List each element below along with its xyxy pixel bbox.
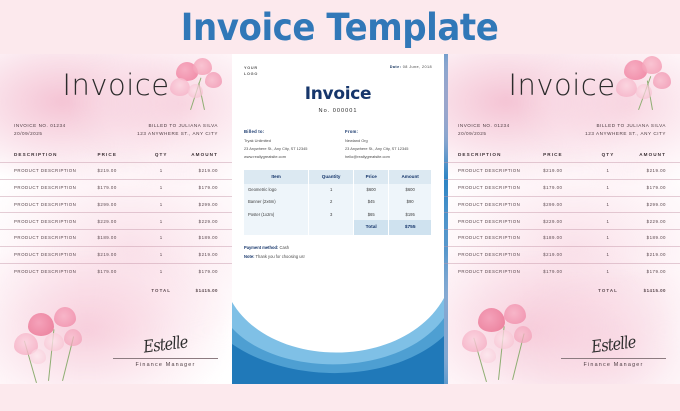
cell-description: PRODUCT DESCRIPTION bbox=[0, 230, 97, 247]
from-label: From: bbox=[345, 129, 358, 134]
signature-block-left: Estelle Finance Manager bbox=[113, 335, 218, 368]
invoice-date-left: 20/09/2025 bbox=[14, 130, 66, 138]
payment-method-label: Payment method: bbox=[244, 245, 278, 250]
cell-qty: 1 bbox=[590, 162, 625, 179]
col-description: DESCRIPTION bbox=[444, 149, 543, 163]
page-title-bar: Invoice Template bbox=[0, 0, 680, 54]
invoice-date-right: 20/09/2025 bbox=[458, 130, 510, 138]
cell-qty: 1 bbox=[590, 246, 625, 263]
cell-price: $229.00 bbox=[543, 213, 590, 230]
invoice-headline-right: Invoice bbox=[444, 68, 680, 102]
invoice-headline-middle: Invoice bbox=[232, 84, 444, 104]
table-row: PRODUCT DESCRIPTION $229.00 1 $229.00 bbox=[444, 213, 680, 230]
cell-price: $219.00 bbox=[97, 246, 143, 263]
total-label: Total bbox=[354, 220, 389, 235]
cell-price: $299.00 bbox=[543, 196, 590, 213]
col-description: DESCRIPTION bbox=[0, 149, 97, 163]
cell-description: PRODUCT DESCRIPTION bbox=[0, 179, 97, 196]
cell-qty: 1 bbox=[144, 213, 179, 230]
wave-svg bbox=[232, 292, 444, 384]
cell-qty: 1 bbox=[590, 213, 625, 230]
cell-description: PRODUCT DESCRIPTION bbox=[444, 263, 543, 279]
signature-name: Estelle bbox=[568, 330, 659, 361]
cell-item: Poster (1x2m) bbox=[244, 208, 309, 220]
table-row: PRODUCT DESCRIPTION $219.00 1 $219.00 bbox=[444, 162, 680, 179]
cell-description: PRODUCT DESCRIPTION bbox=[444, 230, 543, 247]
table-row: PRODUCT DESCRIPTION $229.00 1 $229.00 bbox=[0, 213, 232, 230]
cell-description: PRODUCT DESCRIPTION bbox=[444, 196, 543, 213]
table-header-row: DESCRIPTION PRICE QTY AMOUNT bbox=[0, 149, 232, 163]
invoice-address-right: 123 ANYWHERE ST., ANY CITY bbox=[585, 130, 666, 138]
table-row: PRODUCT DESCRIPTION $299.00 1 $299.00 bbox=[444, 196, 680, 213]
cell-qty: 1 bbox=[144, 230, 179, 247]
cell-amount: $179.00 bbox=[626, 179, 680, 196]
cell-amount: $219.00 bbox=[626, 162, 680, 179]
floral-decoration-bottom-left bbox=[454, 296, 552, 384]
cell-amount: $179.00 bbox=[626, 263, 680, 279]
table-row: Geometric logo 1 $600 $600 bbox=[244, 184, 432, 196]
cell-price: $229.00 bbox=[97, 213, 143, 230]
cell-qty: 1 bbox=[144, 162, 179, 179]
invoice-table-left: DESCRIPTION PRICE QTY AMOUNT PRODUCT DES… bbox=[0, 149, 232, 299]
invoice-meta-left: INVOICE NO. 01234 20/09/2025 BILLED TO J… bbox=[0, 122, 232, 139]
total-amount: $1415.00 bbox=[626, 279, 680, 298]
cell-amount: $90 bbox=[389, 196, 432, 208]
cell-amount: $219.00 bbox=[626, 246, 680, 263]
table-row: PRODUCT DESCRIPTION $179.00 1 $179.00 bbox=[0, 179, 232, 196]
payment-method-line: Payment method: Cash bbox=[244, 244, 432, 253]
payment-info-middle: Payment method: Cash Note: Thank you for… bbox=[232, 235, 444, 261]
billed-to-name: Tryak Unlimited bbox=[244, 137, 331, 145]
col-price: Price bbox=[354, 170, 389, 184]
cell-description: PRODUCT DESCRIPTION bbox=[444, 179, 543, 196]
cell-qty: 1 bbox=[144, 179, 179, 196]
total-label: TOTAL bbox=[590, 279, 625, 298]
cell-qty: 1 bbox=[590, 230, 625, 247]
cell-amount: $299.00 bbox=[179, 196, 232, 213]
signature-block-right: Estelle Finance Manager bbox=[561, 335, 666, 368]
col-price: PRICE bbox=[543, 149, 590, 163]
cell-price: $179.00 bbox=[97, 263, 143, 279]
invoice-meta-client-left: BILLED TO JULIANA SILVA 123 ANYWHERE ST.… bbox=[137, 122, 218, 139]
billed-to-address: 23 Anywhere St., Any City, ST 12345 bbox=[244, 145, 331, 153]
invoice-headline-left: Invoice bbox=[0, 68, 232, 102]
cell-amount: $229.00 bbox=[179, 213, 232, 230]
cell-qty: 1 bbox=[144, 263, 179, 279]
cell-item: Geometric logo bbox=[244, 184, 309, 196]
cell-quantity: 3 bbox=[309, 208, 354, 220]
cell-price: $219.00 bbox=[543, 246, 590, 263]
page-title: Invoice Template bbox=[181, 6, 499, 49]
invoice-meta-issuer-left: INVOICE NO. 01234 20/09/2025 bbox=[14, 122, 66, 139]
table-total-row: TOTAL $1415.00 bbox=[0, 279, 232, 298]
invoice-panel-right[interactable]: Invoice INVOICE NO. 01234 20/09/2025 BIL… bbox=[444, 54, 680, 384]
table-row: PRODUCT DESCRIPTION $219.00 1 $219.00 bbox=[0, 246, 232, 263]
billed-to-block: Billed to: Tryak Unlimited 23 Anywhere S… bbox=[244, 128, 331, 161]
col-qty: QTY bbox=[144, 149, 179, 163]
cell-price: $299.00 bbox=[97, 196, 143, 213]
floral-decoration-bottom-left bbox=[6, 299, 101, 384]
table-row: PRODUCT DESCRIPTION $189.00 1 $189.00 bbox=[0, 230, 232, 247]
invoice-billed-to-right: BILLED TO JULIANA SILVA bbox=[585, 122, 666, 130]
cell-description: PRODUCT DESCRIPTION bbox=[0, 196, 97, 213]
cell-amount: $219.00 bbox=[179, 162, 232, 179]
invoice-address-left: 123 ANYWHERE ST., ANY CITY bbox=[137, 130, 218, 138]
table-body-middle: Geometric logo 1 $600 $600 Banner (2x6m)… bbox=[244, 184, 432, 236]
cell-amount: $299.00 bbox=[626, 196, 680, 213]
table-header-row: Item Quantity Price Amount bbox=[244, 170, 432, 184]
cell-amount: $229.00 bbox=[626, 213, 680, 230]
invoice-meta-issuer-right: INVOICE NO. 01234 20/09/2025 bbox=[458, 122, 510, 139]
cell-price: $65 bbox=[354, 208, 389, 220]
invoice-table-middle: Item Quantity Price Amount Geometric log… bbox=[244, 170, 432, 236]
col-item: Item bbox=[244, 170, 309, 184]
from-address: 23 Anywhere St., Any City, ST 12345 bbox=[345, 145, 432, 153]
cell-price: $189.00 bbox=[97, 230, 143, 247]
logo-placeholder: YOUR LOGO bbox=[244, 65, 258, 78]
signature-role: Finance Manager bbox=[113, 362, 218, 368]
cell-price: $189.00 bbox=[543, 230, 590, 247]
cell-item: Banner (2x6m) bbox=[244, 196, 309, 208]
note-label: Note: bbox=[244, 254, 254, 259]
table-header-row: DESCRIPTION PRICE QTY AMOUNT bbox=[444, 149, 680, 163]
cell-amount: $189.00 bbox=[179, 230, 232, 247]
table-row: PRODUCT DESCRIPTION $179.00 1 $179.00 bbox=[0, 263, 232, 279]
table-row: PRODUCT DESCRIPTION $219.00 1 $219.00 bbox=[444, 246, 680, 263]
cell-amount: $179.00 bbox=[179, 263, 232, 279]
invoice-panel-middle[interactable]: YOUR LOGO Date: 08 June, 2018 Invoice No… bbox=[232, 54, 444, 384]
cell-price: $179.00 bbox=[543, 179, 590, 196]
date-value: 08 June, 2018 bbox=[403, 65, 432, 69]
note-line: Note: Thank you for choosing us! bbox=[244, 253, 432, 262]
cell-price: $179.00 bbox=[543, 263, 590, 279]
col-price: PRICE bbox=[97, 149, 143, 163]
invoice-panel-left[interactable]: Invoice INVOICE NO. 01234 20/09/2025 BIL… bbox=[0, 54, 232, 384]
from-contact: hello@reallygreatsite.com bbox=[345, 153, 432, 161]
invoice-parties-middle: Billed to: Tryak Unlimited 23 Anywhere S… bbox=[232, 114, 444, 161]
invoice-meta-client-right: BILLED TO JULIANA SILVA 123 ANYWHERE ST.… bbox=[585, 122, 666, 139]
cell-qty: 1 bbox=[590, 263, 625, 279]
cell-amount: $219.00 bbox=[179, 246, 232, 263]
cell-amount: $600 bbox=[389, 184, 432, 196]
cell-amount: $179.00 bbox=[179, 179, 232, 196]
invoice-panels-row: Invoice INVOICE NO. 01234 20/09/2025 BIL… bbox=[0, 54, 680, 384]
from-name: Newland Org bbox=[345, 137, 432, 145]
invoice-number-right: INVOICE NO. 01234 bbox=[458, 122, 510, 130]
table-body-right: PRODUCT DESCRIPTION $219.00 1 $219.00 PR… bbox=[444, 162, 680, 298]
table-row: PRODUCT DESCRIPTION $179.00 1 $179.00 bbox=[444, 263, 680, 279]
col-quantity: Quantity bbox=[309, 170, 354, 184]
invoice-billed-to-left: BILLED TO JULIANA SILVA bbox=[137, 122, 218, 130]
table-row: PRODUCT DESCRIPTION $219.00 1 $219.00 bbox=[0, 162, 232, 179]
cell-price: $219.00 bbox=[97, 162, 143, 179]
cell-description: PRODUCT DESCRIPTION bbox=[0, 162, 97, 179]
invoice-template-page: Invoice Template Invoice bbox=[0, 0, 680, 411]
cell-description: PRODUCT DESCRIPTION bbox=[444, 162, 543, 179]
cell-quantity: 2 bbox=[309, 196, 354, 208]
table-row: PRODUCT DESCRIPTION $299.00 1 $299.00 bbox=[0, 196, 232, 213]
payment-method-value: Cash bbox=[280, 245, 290, 250]
cell-description: PRODUCT DESCRIPTION bbox=[0, 263, 97, 279]
total-amount: $1415.00 bbox=[179, 279, 232, 298]
signature-name: Estelle bbox=[120, 330, 211, 361]
table-total-row: TOTAL $1415.00 bbox=[444, 279, 680, 298]
from-block: From: Newland Org 23 Anywhere St., Any C… bbox=[345, 128, 432, 161]
cell-description: PRODUCT DESCRIPTION bbox=[444, 246, 543, 263]
cell-qty: 1 bbox=[144, 246, 179, 263]
col-amount: Amount bbox=[389, 170, 432, 184]
blue-wave-footer bbox=[232, 292, 444, 384]
invoice-top-bar-middle: YOUR LOGO Date: 08 June, 2018 bbox=[232, 54, 444, 78]
cell-price: $179.00 bbox=[97, 179, 143, 196]
signature-role: Finance Manager bbox=[561, 362, 666, 368]
invoice-date-middle: Date: 08 June, 2018 bbox=[390, 65, 432, 78]
cell-description: PRODUCT DESCRIPTION bbox=[0, 213, 97, 230]
table-body-left: PRODUCT DESCRIPTION $219.00 1 $219.00 PR… bbox=[0, 162, 232, 298]
cell-price: $219.00 bbox=[543, 162, 590, 179]
table-row: PRODUCT DESCRIPTION $189.00 1 $189.00 bbox=[444, 230, 680, 247]
note-value: Thank you for choosing us! bbox=[256, 254, 305, 259]
table-total-row: Total $755 bbox=[244, 220, 432, 235]
cell-qty: 1 bbox=[590, 196, 625, 213]
col-amount: AMOUNT bbox=[626, 149, 680, 163]
total-amount: $755 bbox=[389, 220, 432, 235]
table-row: PRODUCT DESCRIPTION $179.00 1 $179.00 bbox=[444, 179, 680, 196]
cell-quantity: 1 bbox=[309, 184, 354, 196]
invoice-meta-right: INVOICE NO. 01234 20/09/2025 BILLED TO J… bbox=[444, 122, 680, 139]
col-qty: QTY bbox=[590, 149, 625, 163]
cell-description: PRODUCT DESCRIPTION bbox=[444, 213, 543, 230]
table-row: Banner (2x6m) 2 $45 $90 bbox=[244, 196, 432, 208]
billed-to-label: Billed to: bbox=[244, 129, 264, 134]
cell-price: $600 bbox=[354, 184, 389, 196]
cell-amount: $195 bbox=[389, 208, 432, 220]
col-amount: AMOUNT bbox=[179, 149, 232, 163]
date-label: Date: bbox=[390, 65, 402, 69]
cell-price: $45 bbox=[354, 196, 389, 208]
cell-qty: 1 bbox=[590, 179, 625, 196]
cell-description: PRODUCT DESCRIPTION bbox=[0, 246, 97, 263]
billed-to-contact: www.reallygreatsite.com bbox=[244, 153, 331, 161]
invoice-table-right: DESCRIPTION PRICE QTY AMOUNT PRODUCT DES… bbox=[444, 149, 680, 299]
total-label: TOTAL bbox=[144, 279, 179, 298]
table-row: Poster (1x2m) 3 $65 $195 bbox=[244, 208, 432, 220]
invoice-number-left: INVOICE NO. 01234 bbox=[14, 122, 66, 130]
cell-qty: 1 bbox=[144, 196, 179, 213]
logo-line-2: LOGO bbox=[244, 71, 258, 77]
cell-amount: $189.00 bbox=[626, 230, 680, 247]
